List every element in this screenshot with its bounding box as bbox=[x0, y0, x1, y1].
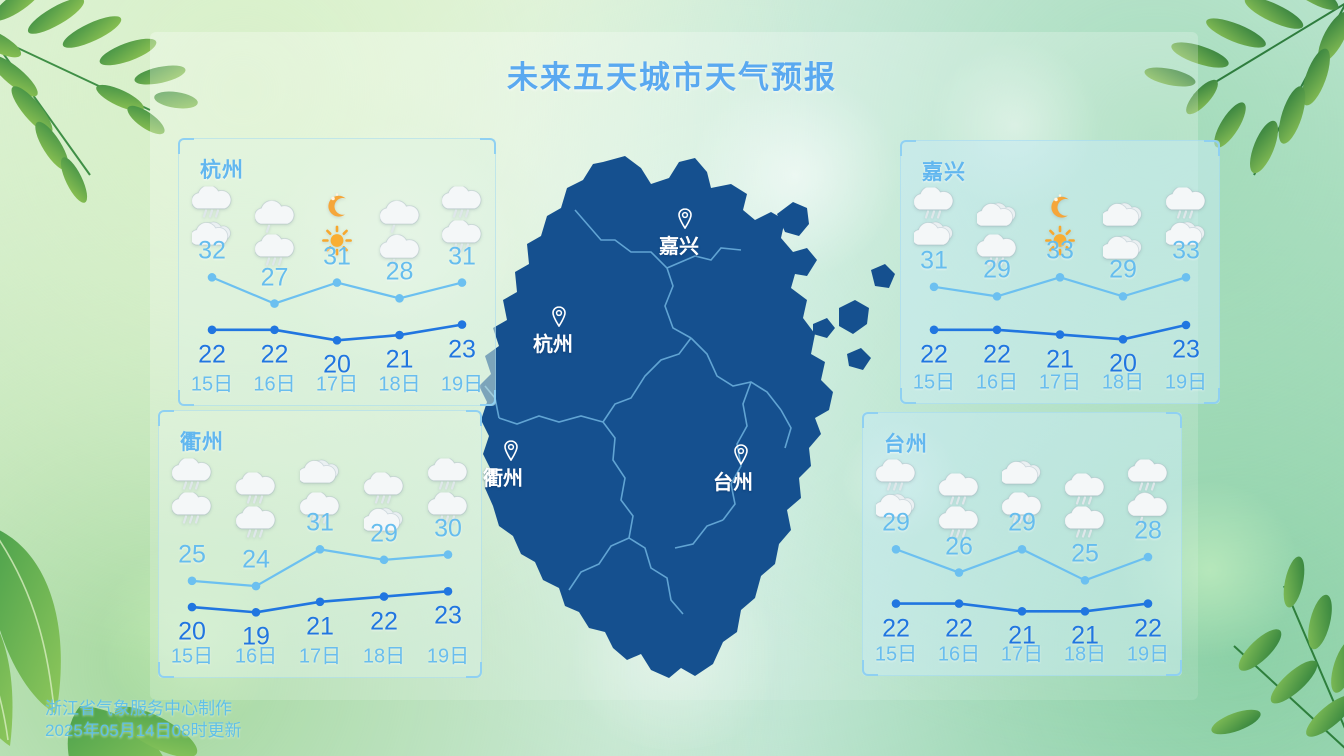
day-label: 16日 bbox=[253, 368, 295, 397]
forecast-panel-hangzhou[interactable]: 杭州 3227312831222220212315日16日17日18日19日 bbox=[178, 138, 496, 406]
low-temp-value: 22 bbox=[198, 340, 226, 369]
day-label: 17日 bbox=[1039, 366, 1081, 395]
low-temp-value: 22 bbox=[261, 340, 289, 369]
map-label-hangzhou: 杭州 bbox=[533, 328, 573, 357]
day-label: 17日 bbox=[316, 368, 358, 397]
day-label: 15日 bbox=[875, 638, 917, 667]
page-title: 未来五天城市天气预报 bbox=[0, 52, 1344, 97]
forecast-panel-quzhou[interactable]: 衢州 2524312930201921222315日16日17日18日19日 bbox=[158, 410, 482, 678]
high-temp-value: 26 bbox=[945, 532, 973, 561]
high-temp-value: 28 bbox=[1134, 517, 1162, 546]
day-label: 19日 bbox=[1165, 366, 1207, 395]
high-temp-value: 32 bbox=[198, 237, 226, 266]
day-label: 15日 bbox=[191, 368, 233, 397]
map-label-taizhou: 台州 bbox=[713, 466, 753, 495]
day-label: 18日 bbox=[378, 368, 420, 397]
high-temp-value: 31 bbox=[323, 242, 351, 271]
high-temp-value: 33 bbox=[1172, 237, 1200, 266]
day-label: 18日 bbox=[1102, 366, 1144, 395]
high-temp-value: 29 bbox=[983, 256, 1011, 285]
footer-producer: 浙江省气象服务中心制作 bbox=[45, 698, 242, 720]
high-temp-value: 27 bbox=[261, 263, 289, 292]
footer-updated: 2025年05月14日08时更新 bbox=[45, 720, 242, 742]
map-pin-icon bbox=[503, 440, 519, 461]
high-temp-value: 29 bbox=[1109, 256, 1137, 285]
map-pin-icon bbox=[733, 444, 749, 465]
low-temp-value: 23 bbox=[1172, 336, 1200, 365]
day-label: 18日 bbox=[1064, 638, 1106, 667]
high-temp-value: 25 bbox=[1071, 540, 1099, 569]
high-temp-value: 29 bbox=[882, 509, 910, 538]
high-temp-value: 25 bbox=[178, 540, 206, 569]
day-label: 19日 bbox=[1127, 638, 1169, 667]
day-label: 16日 bbox=[938, 638, 980, 667]
high-temp-value: 31 bbox=[920, 246, 948, 275]
day-label: 19日 bbox=[441, 368, 483, 397]
day-label: 16日 bbox=[976, 366, 1018, 395]
day-label: 15日 bbox=[171, 640, 213, 669]
province-map: 杭州 嘉兴 衢州 台州 bbox=[455, 148, 905, 693]
map-label-jiaxing: 嘉兴 bbox=[659, 230, 699, 259]
high-temp-value: 24 bbox=[242, 546, 270, 575]
low-temp-value: 23 bbox=[434, 602, 462, 631]
high-temp-value: 33 bbox=[1046, 237, 1074, 266]
high-temp-value: 30 bbox=[434, 514, 462, 543]
map-label-quzhou: 衢州 bbox=[483, 462, 523, 491]
day-label: 15日 bbox=[913, 366, 955, 395]
day-label: 17日 bbox=[299, 640, 341, 669]
day-label: 18日 bbox=[363, 640, 405, 669]
map-pin-icon bbox=[677, 208, 693, 229]
high-temp-value: 31 bbox=[448, 242, 476, 271]
low-temp-value: 23 bbox=[448, 335, 476, 364]
low-temp-value: 21 bbox=[306, 612, 334, 641]
day-label: 16日 bbox=[235, 640, 277, 669]
low-temp-value: 22 bbox=[370, 607, 398, 636]
high-temp-value: 28 bbox=[386, 258, 414, 287]
day-label: 19日 bbox=[427, 640, 469, 669]
high-temp-value: 29 bbox=[1008, 509, 1036, 538]
forecast-panel-taizhou[interactable]: 台州 2926292528222221212215日16日17日18日19日 bbox=[862, 412, 1182, 676]
day-label: 17日 bbox=[1001, 638, 1043, 667]
high-temp-value: 29 bbox=[370, 519, 398, 548]
footer: 浙江省气象服务中心制作 2025年05月14日08时更新 bbox=[45, 698, 242, 742]
forecast-panel-jiaxing[interactable]: 嘉兴 31293329 bbox=[900, 140, 1220, 404]
map-pin-icon bbox=[551, 306, 567, 327]
high-temp-value: 31 bbox=[306, 509, 334, 538]
